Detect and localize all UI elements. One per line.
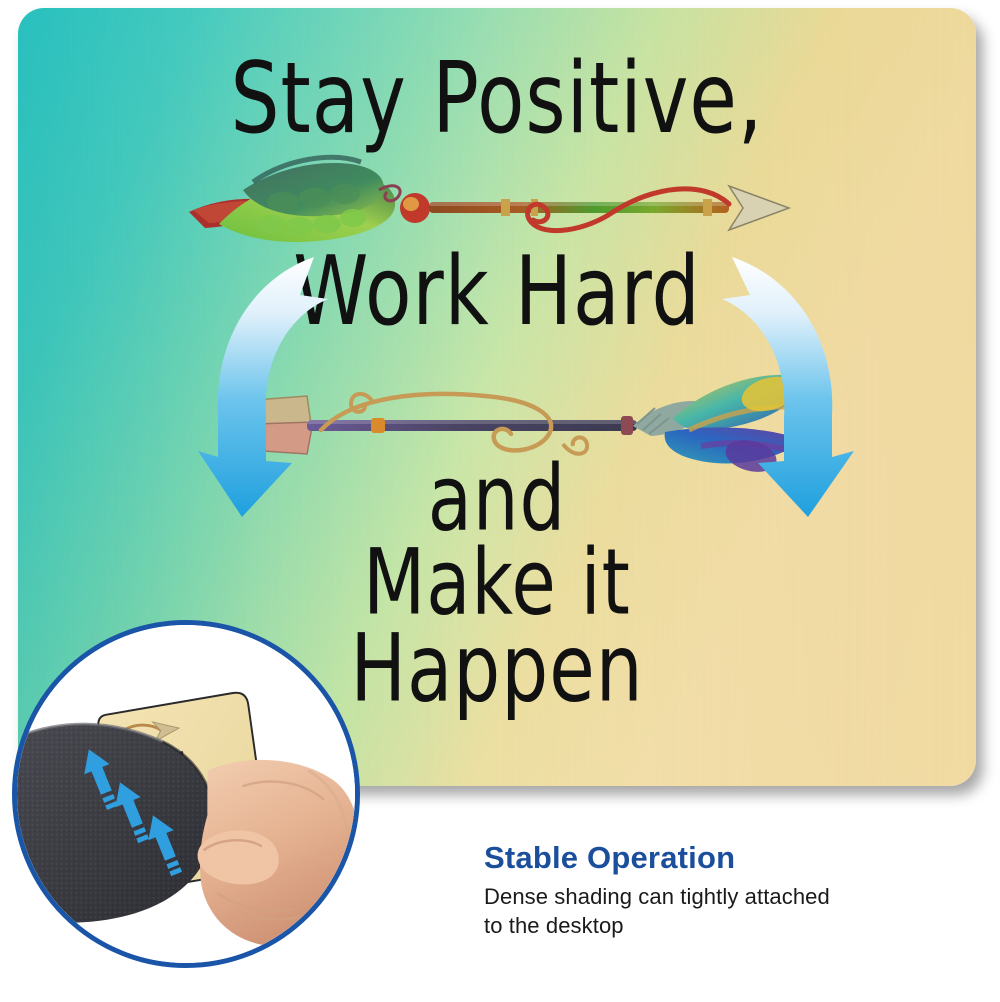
feature-caption-block: Stable Operation Dense shading can tight… [484,842,954,940]
hand-lifting-corner [198,760,355,946]
feature-description: Dense shading can tightly attached to th… [484,882,954,941]
quote-line-happen: Happen [350,615,643,723]
inset-photo-scene: ed [17,625,355,963]
curved-blue-arrow-right-icon [706,251,856,556]
curved-blue-arrow-left-icon [196,251,331,556]
feature-description-line-1: Dense shading can tightly attached [484,882,954,911]
feathered-arrow-top-icon [183,146,793,251]
quote-line-work-hard: Work Hard [293,234,700,346]
inset-photo-nonslip-base: ed [12,620,360,968]
feature-description-line-2: to the desktop [484,911,954,940]
feature-title: Stable Operation [484,842,954,875]
quote-line-stay-positive: Stay Positive, [231,42,764,155]
